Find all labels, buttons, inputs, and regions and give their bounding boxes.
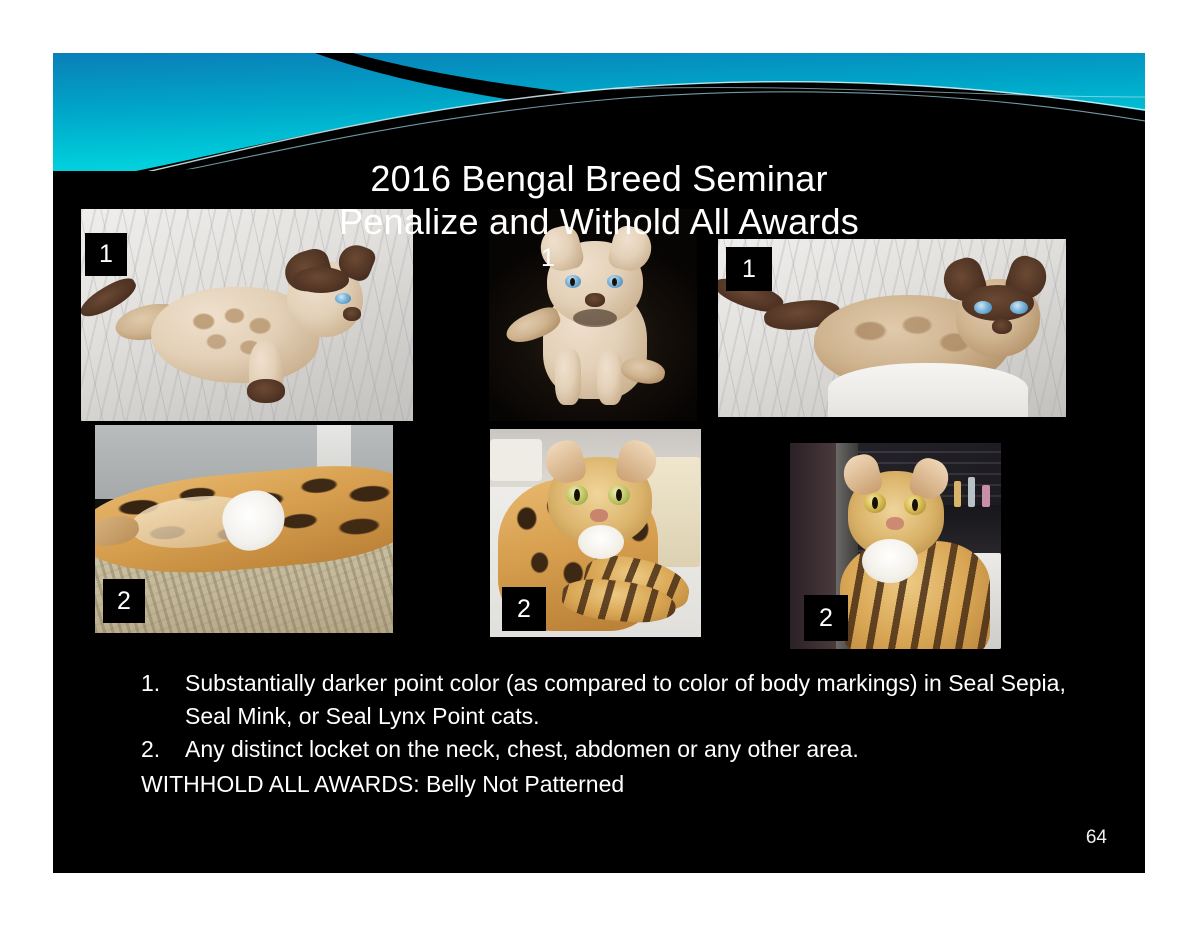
- numbered-item-1-marker: 1.: [141, 667, 185, 733]
- photo-6-badge: 2: [804, 595, 848, 641]
- photo-3-badge: 1: [726, 247, 772, 291]
- numbered-item-2-text: Any distinct locket on the neck, chest, …: [185, 733, 1101, 766]
- banner-swoosh-graphic: [53, 53, 1145, 193]
- photo-seal-lynx-point-kitten-sitting[interactable]: 1: [81, 209, 413, 421]
- photo-bengal-looking-up[interactable]: 2: [790, 443, 1001, 649]
- numbered-item-2-marker: 2.: [141, 733, 185, 766]
- photo-4-badge: 2: [103, 579, 145, 623]
- numbered-item-2: 2. Any distinct locket on the neck, ches…: [141, 733, 1101, 766]
- decorative-banner: [53, 53, 1145, 193]
- withhold-all-awards-line: WITHHOLD ALL AWARDS: Belly Not Patterned: [141, 768, 1101, 801]
- photo-2-badge: 1: [533, 241, 563, 275]
- photo-seal-sepia-kitten-lying[interactable]: 1: [718, 239, 1066, 417]
- numbered-item-1-text: Substantially darker point color (as com…: [185, 667, 1101, 733]
- body-text-block: 1. Substantially darker point color (as …: [141, 667, 1101, 801]
- numbered-item-1: 1. Substantially darker point color (as …: [141, 667, 1101, 733]
- page-number: 64: [1086, 827, 1107, 849]
- photo-1-badge: 1: [85, 233, 127, 276]
- photo-seal-lynx-point-kitten-front[interactable]: 1: [489, 209, 697, 421]
- photo-2-artwork: [489, 209, 697, 421]
- photo-bengal-rosetted-on-desk[interactable]: 2: [490, 429, 701, 637]
- photo-bengal-belly-locket[interactable]: 2: [95, 425, 393, 633]
- photo-5-badge: 2: [502, 587, 546, 631]
- slide-canvas: 2016 Bengal Breed Seminar Penalize and W…: [53, 53, 1145, 873]
- photo-1-artwork: [81, 209, 413, 421]
